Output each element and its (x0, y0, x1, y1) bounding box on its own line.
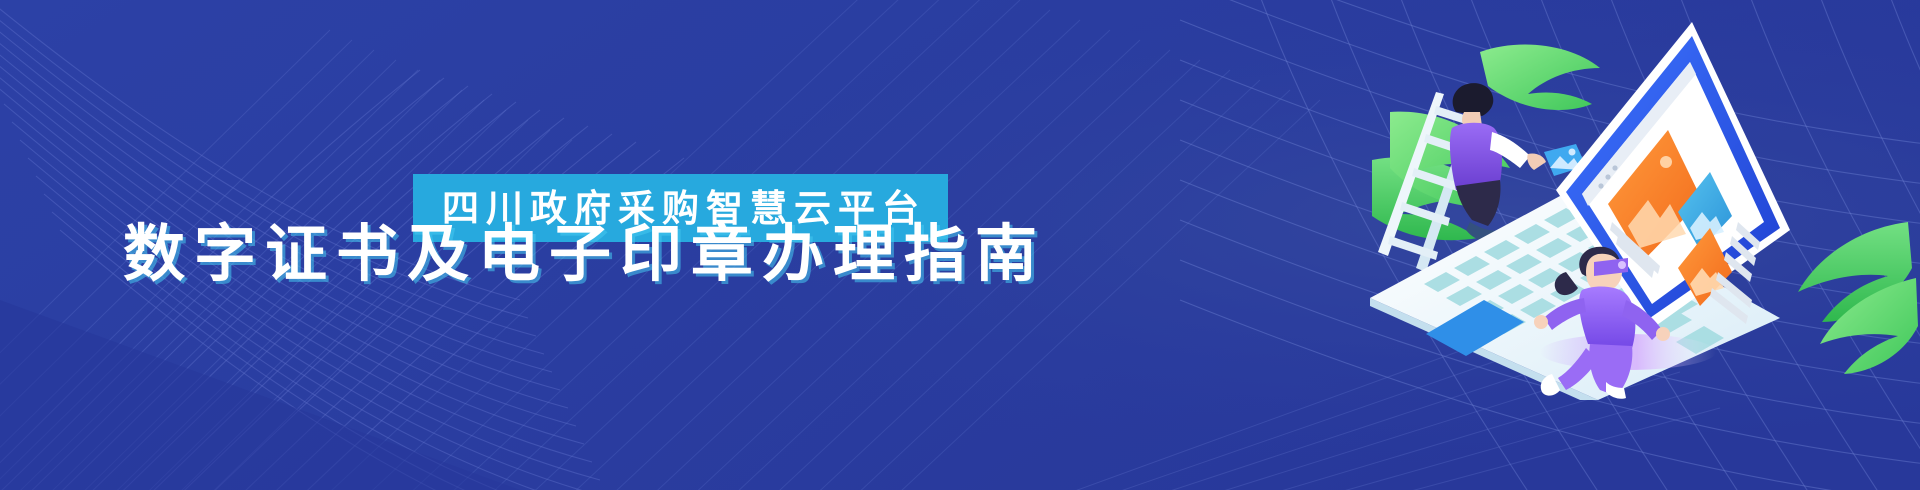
hero-illustration (1360, 0, 1920, 400)
banner-text-block: 四川政府采购智慧云平台 数字证书及电子印章办理指南 (0, 0, 1100, 490)
page-title: 数字证书及电子印章办理指南 (0, 203, 1160, 293)
page-banner: 四川政府采购智慧云平台 数字证书及电子印章办理指南 (0, 0, 1920, 490)
